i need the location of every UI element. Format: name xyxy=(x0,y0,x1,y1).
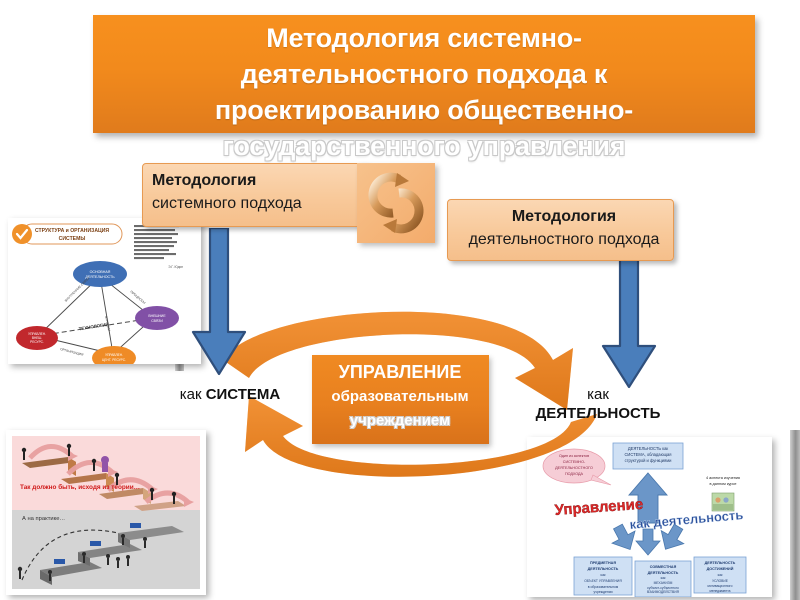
svg-text:ДЕЯТЕЛЬНОСТЬ: ДЕЯТЕЛЬНОСТЬ xyxy=(705,561,736,565)
svg-text:СИСТЕМЫ: СИСТЕМЫ xyxy=(59,236,86,242)
svg-text:как: как xyxy=(661,576,666,580)
stairs-diagram-graphic: Так должно быть, исходя из теории… А на … xyxy=(6,430,206,595)
svg-text:в данном курсе: в данном курсе xyxy=(709,482,736,486)
svg-text:учреждении: учреждении xyxy=(594,590,613,594)
blue-down-arrow-icon xyxy=(600,254,658,389)
title-banner xyxy=(93,15,755,133)
svg-text:как: как xyxy=(601,573,606,577)
svg-text:УСЛОВИЕ: УСЛОВИЕ xyxy=(712,579,729,583)
svg-text:как: как xyxy=(718,573,723,577)
svg-text:в образовательном: в образовательном xyxy=(588,585,619,589)
title-line-4: государственного управления xyxy=(93,128,755,164)
thumbnail-structure-slide[interactable]: СТРУКТУРА и ОРГАНИЗАЦИЯ СИСТЕМЫ Э.Г. Юди… xyxy=(8,218,201,364)
svg-text:Так должно быть, исходя из тео: Так должно быть, исходя из теории… xyxy=(20,483,140,491)
slide-canvas: СТРУКТУРА и ОРГАНИЗАЦИЯ СИСТЕМЫ Э.Г. Юди… xyxy=(0,0,800,600)
svg-text:МЕХАНИЗМ: МЕХАНИЗМ xyxy=(654,581,673,585)
svg-text:ДЕЯТЕЛЬНОСТЬ как: ДЕЯТЕЛЬНОСТЬ как xyxy=(628,446,669,451)
structure-diagram-graphic: СТРУКТУРА и ОРГАНИЗАЦИЯ СИСТЕМЫ Э.Г. Юди… xyxy=(8,218,201,364)
svg-text:Э.Г. Юдин: Э.Г. Юдин xyxy=(168,265,183,269)
thumbnail-stairs-slide[interactable]: Так должно быть, исходя из теории… А на … xyxy=(6,430,206,595)
right-edge-shadow xyxy=(790,430,800,600)
svg-text:СВЯЗИ: СВЯЗИ xyxy=(151,319,163,323)
svg-text:ВЗАИМОДЕЙСТВИЯ: ВЗАИМОДЕЙСТВИЯ xyxy=(647,590,680,594)
callout-box-activity[interactable] xyxy=(447,199,674,261)
svg-text:УПРАВЛЕН.: УПРАВЛЕН. xyxy=(105,353,123,357)
svg-text:А на практике…: А на практике… xyxy=(22,516,65,522)
center-concept-box xyxy=(312,355,489,444)
callout-box-system[interactable] xyxy=(142,163,369,227)
svg-text:ДЕЯТЕЛЬНОСТЬ: ДЕЯТЕЛЬНОСТЬ xyxy=(588,567,619,571)
svg-text:РЕСУРС.: РЕСУРС. xyxy=(30,340,44,344)
blue-down-arrow-icon xyxy=(190,228,248,376)
svg-text:ДОСТИЖЕНИЙ: ДОСТИЖЕНИЙ xyxy=(707,567,734,571)
svg-text:ЦЕНТ. РЕСУРС.: ЦЕНТ. РЕСУРС. xyxy=(102,358,126,362)
rings-glyph xyxy=(357,163,435,243)
svg-text:мотивационного: мотивационного xyxy=(708,584,733,588)
svg-text:ДЕЯТЕЛЬНОСТЬ: ДЕЯТЕЛЬНОСТЬ xyxy=(648,571,679,575)
svg-text:ДЕЯТЕЛЬНОСТЬ: ДЕЯТЕЛЬНОСТЬ xyxy=(85,275,115,279)
svg-text:СТРУКТУРА и ОРГАНИЗАЦИЯ: СТРУКТУРА и ОРГАНИЗАЦИЯ xyxy=(35,228,109,234)
svg-text:ОБЪЕКТ УПРАВЛЕНИЯ: ОБЪЕКТ УПРАВЛЕНИЯ xyxy=(584,579,622,583)
svg-text:ВНЕШНИЕ: ВНЕШНИЕ xyxy=(148,314,166,318)
svg-text:СИСТЕМА, обладающая: СИСТЕМА, обладающая xyxy=(624,452,671,457)
svg-text:ПРЕДМЕТНАЯ: ПРЕДМЕТНАЯ xyxy=(590,561,616,565)
svg-text:структурой и функциями: структурой и функциями xyxy=(625,458,672,463)
svg-text:ОСНОВНАЯ: ОСНОВНАЯ xyxy=(90,270,111,274)
caption-left-prefix: как xyxy=(180,386,206,403)
svg-text:4 аспекта изучения: 4 аспекта изучения xyxy=(706,476,740,480)
svg-text:СОВМЕСТНАЯ: СОВМЕСТНАЯ xyxy=(650,565,677,569)
svg-text:менеджмента: менеджмента xyxy=(709,589,730,593)
interlocking-rings-icon xyxy=(357,163,435,243)
